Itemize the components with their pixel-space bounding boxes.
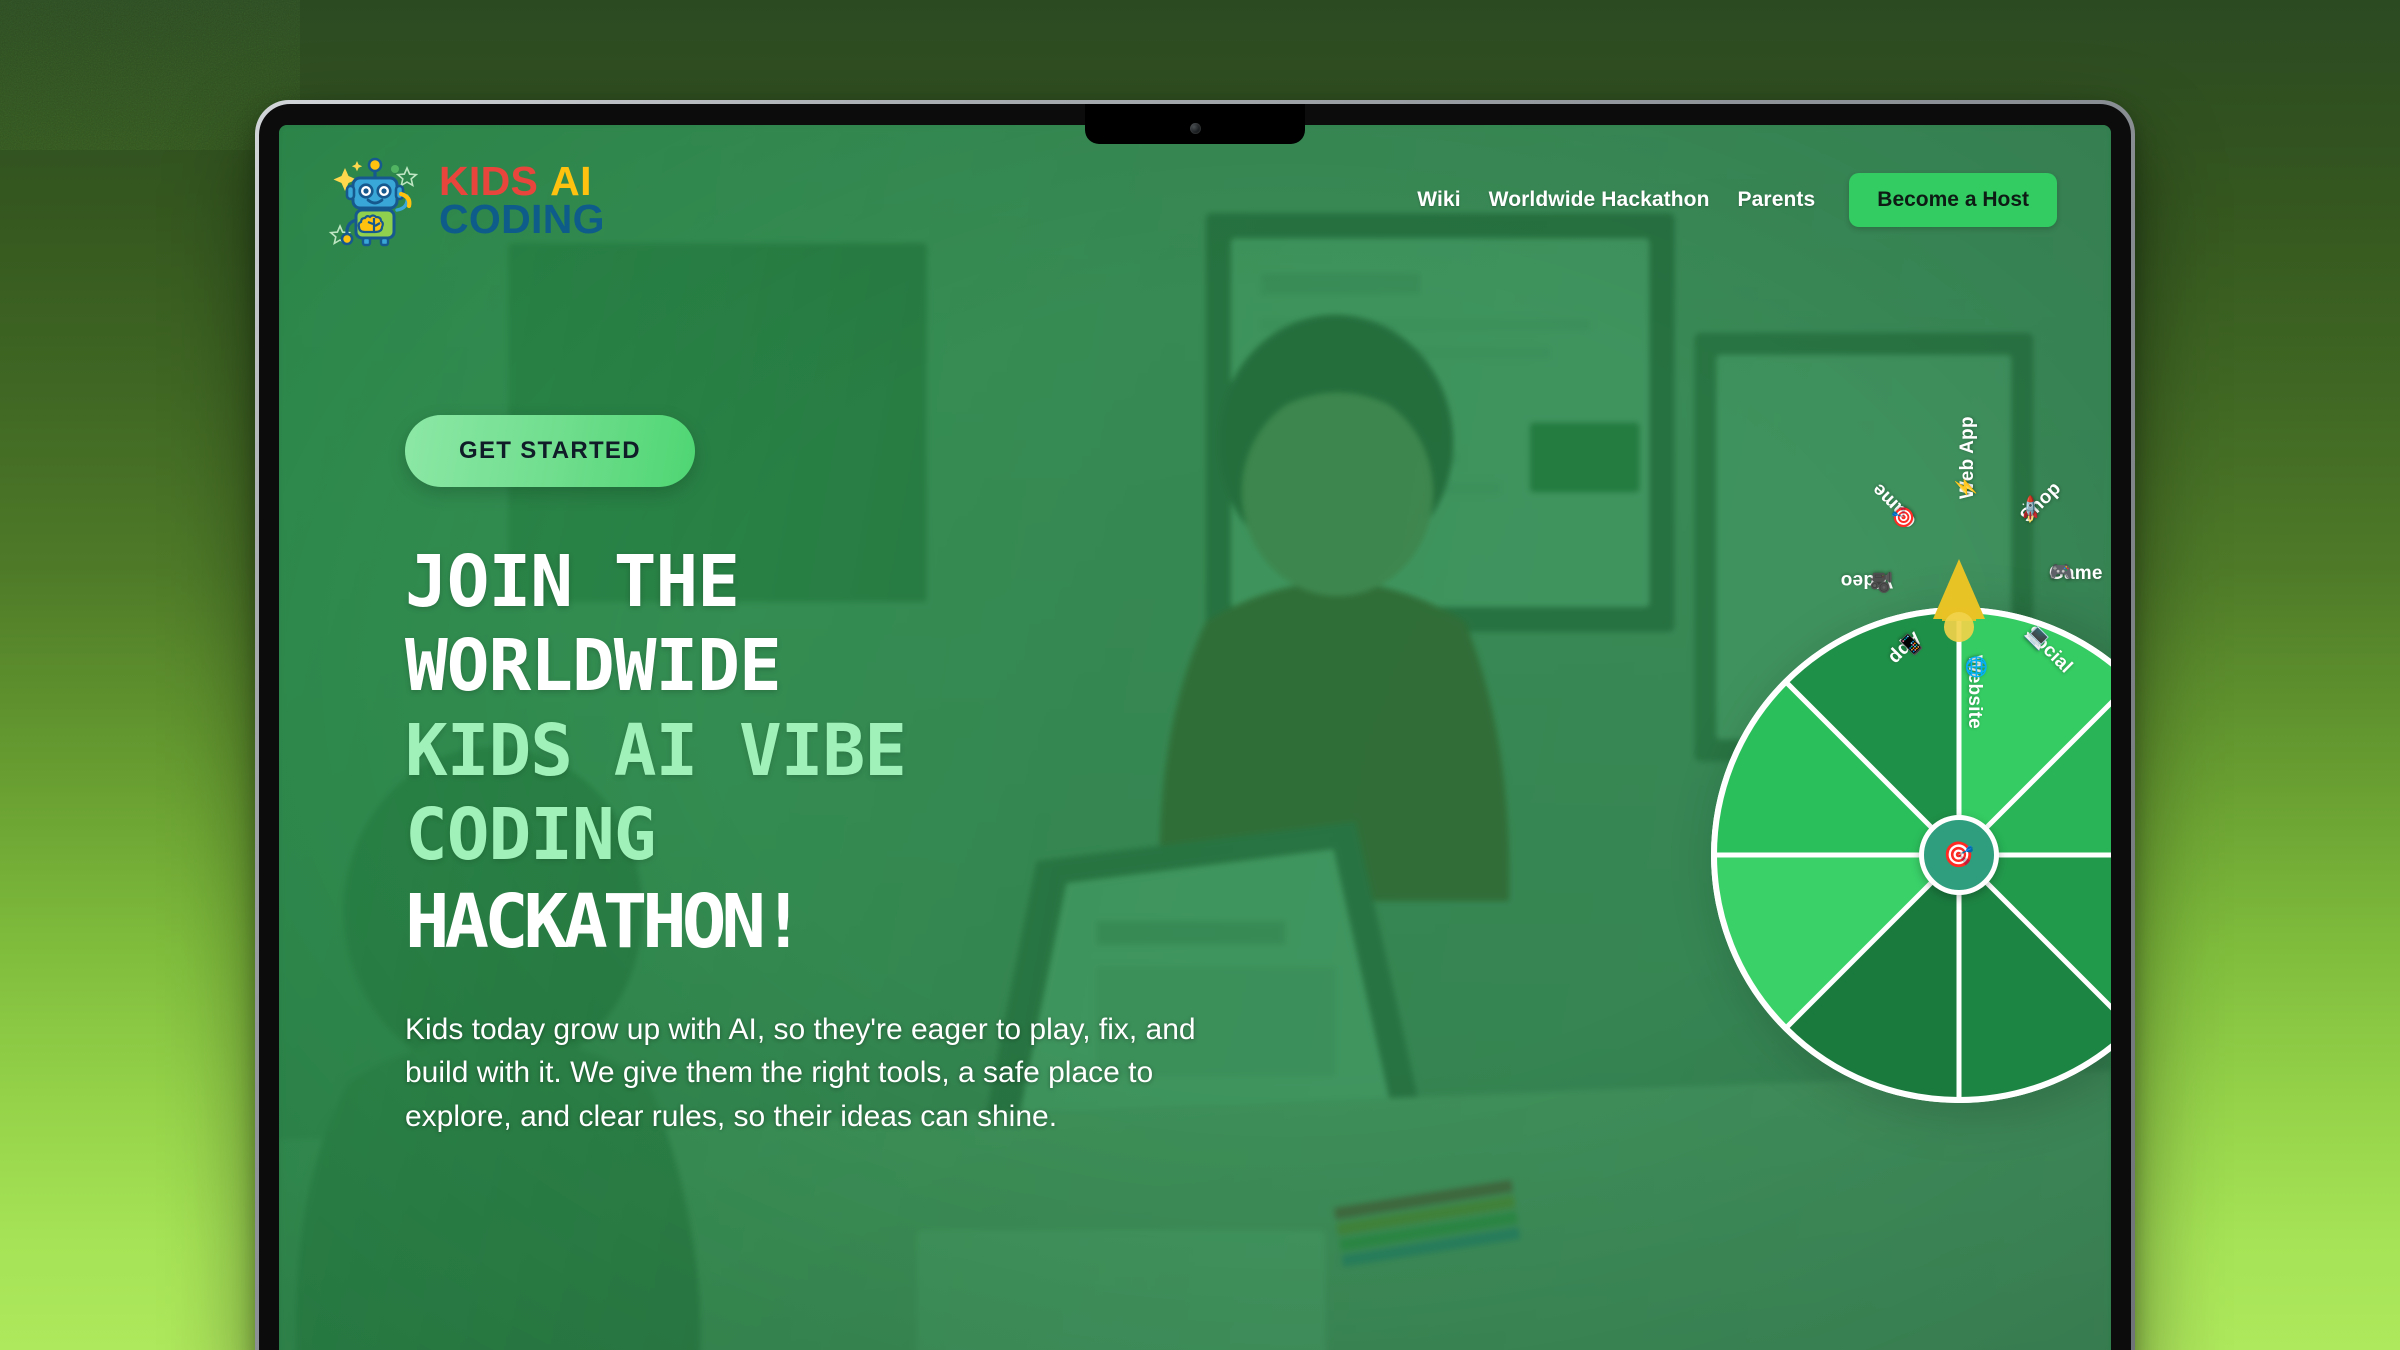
brand-wordmark: KIDSAI CODING <box>439 162 605 238</box>
brand-coding-text: CODING <box>439 200 605 238</box>
headline-line-3: KIDS AI VIBE <box>405 709 1305 793</box>
wheel-segments[interactable] <box>1709 605 2111 1105</box>
dart-target-icon: 🎯 <box>1943 841 1974 870</box>
hero-paragraph: Kids today grow up with AI, so they're e… <box>405 1008 1205 1139</box>
nav-item-worldwide-hackathon[interactable]: Worldwide Hackathon <box>1489 188 1710 212</box>
nav-item-parents[interactable]: Parents <box>1738 188 1816 212</box>
robot-brain-icon <box>327 152 423 248</box>
laptop-bezel: KIDSAI CODING Wiki Worldwide Hackathon P… <box>259 104 2131 1350</box>
headline-line-2: WORLDWIDE <box>405 624 1305 708</box>
headline-line-4: CODING <box>405 793 1305 877</box>
laptop-mockup: KIDSAI CODING Wiki Worldwide Hackathon P… <box>255 100 2135 1350</box>
brand-logo[interactable]: KIDSAI CODING <box>327 152 605 248</box>
nav-item-wiki[interactable]: Wiki <box>1417 188 1460 212</box>
primary-nav: Wiki Worldwide Hackathon Parents Become … <box>1417 173 2057 227</box>
triangle-pointer-icon <box>1929 555 1989 647</box>
camera-icon <box>1190 123 1201 134</box>
laptop-notch <box>1085 104 1305 144</box>
hero-section: GET STARTED JOIN THE WORLDWIDE KIDS AI V… <box>405 415 1305 1138</box>
headline-line-5: HACKATHON! <box>405 878 1305 966</box>
website-screen: KIDSAI CODING Wiki Worldwide Hackathon P… <box>279 125 2111 1350</box>
get-started-button[interactable]: GET STARTED <box>405 415 695 487</box>
wheel-hub[interactable]: 🎯 <box>1919 815 1999 895</box>
spin-wheel[interactable]: Game🎮Social💻Website🌐App📱Video🎥Game🎯Web A… <box>1691 577 2111 1137</box>
become-a-host-button[interactable]: Become a Host <box>1849 173 2057 227</box>
site-header: KIDSAI CODING Wiki Worldwide Hackathon P… <box>279 125 2111 275</box>
page-title: JOIN THE WORLDWIDE KIDS AI VIBE CODING H… <box>405 540 1305 966</box>
headline-line-1: JOIN THE <box>405 540 1305 624</box>
